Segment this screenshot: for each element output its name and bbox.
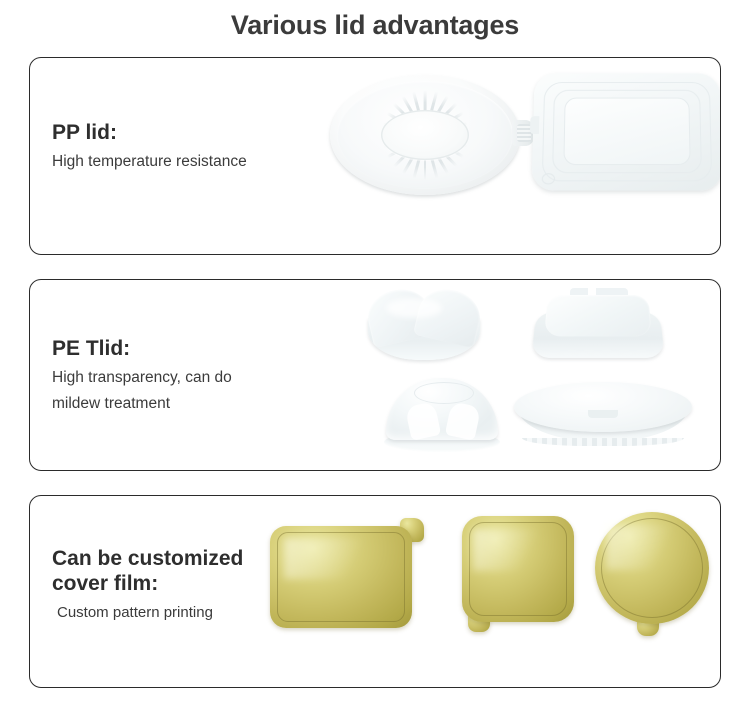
heart-pet-lid-highlight (386, 298, 442, 318)
square-pet-lid-top (544, 295, 652, 336)
oval-pet-lid-serration (522, 438, 684, 446)
square-pet-lid-image (530, 286, 670, 370)
round-pp-lid-image (318, 63, 536, 203)
panel-cover-film: Can be customized cover film: Custom pat… (29, 495, 721, 688)
rect-lid-corner-mark (542, 173, 555, 184)
square-gold-foil-lid-image (458, 514, 580, 632)
panel-pet-lid-heading: PE Tlid: (52, 336, 232, 361)
rectangular-gold-foil-lid-image (270, 518, 424, 630)
rectangular-pp-lid-graphic (531, 73, 721, 190)
panel-pp-lid-text: PP lid: High temperature resistance (52, 120, 247, 175)
rect-foil-sheen (284, 538, 383, 579)
square-foil-sheen (473, 529, 551, 571)
dome-pet-lid-cap (386, 378, 498, 440)
panel-pet-lid-description: High transparency, can do mildew treatme… (52, 365, 232, 417)
panel-cover-film-description: Custom pattern printing (52, 600, 243, 626)
rectangular-gold-foil-lid-body (270, 526, 412, 628)
panel-pp-lid-description: High temperature resistance (52, 149, 247, 175)
dome-pet-lid-facet-right (445, 401, 481, 440)
page-title: Various lid advantages (0, 8, 750, 42)
panel-cover-film-text: Can be customized cover film: Custom pat… (52, 546, 243, 626)
rect-lid-ring-inner (563, 98, 690, 165)
round-gold-foil-lid-image (593, 512, 715, 634)
panel-pp-lid-heading: PP lid: (52, 120, 247, 145)
panel-pet-lid: PE Tlid: High transparency, can do milde… (29, 279, 721, 471)
oval-pet-lid-image (508, 380, 698, 450)
round-pp-lid-graphic (318, 63, 536, 203)
rectangular-pp-lid-image (527, 66, 721, 200)
round-gold-foil-lid-body (595, 512, 709, 624)
dome-pet-lid-facet-left (405, 401, 441, 440)
oval-pet-lid-notch (588, 410, 618, 418)
panel-pet-lid-text: PE Tlid: High transparency, can do milde… (52, 336, 232, 417)
round-pp-lid-center (381, 110, 469, 160)
oval-pet-lid-top (514, 382, 692, 432)
panel-pp-lid: PP lid: High temperature resistance (29, 57, 721, 255)
heart-pet-lid-image (360, 284, 495, 370)
dome-pet-lid-image (382, 376, 502, 456)
dome-pet-lid-inner-circle (414, 382, 474, 404)
square-gold-foil-lid-body (462, 516, 574, 622)
rect-lid-notch (530, 116, 539, 134)
round-foil-sheen (606, 525, 686, 570)
panel-cover-film-heading: Can be customized cover film: (52, 546, 243, 596)
